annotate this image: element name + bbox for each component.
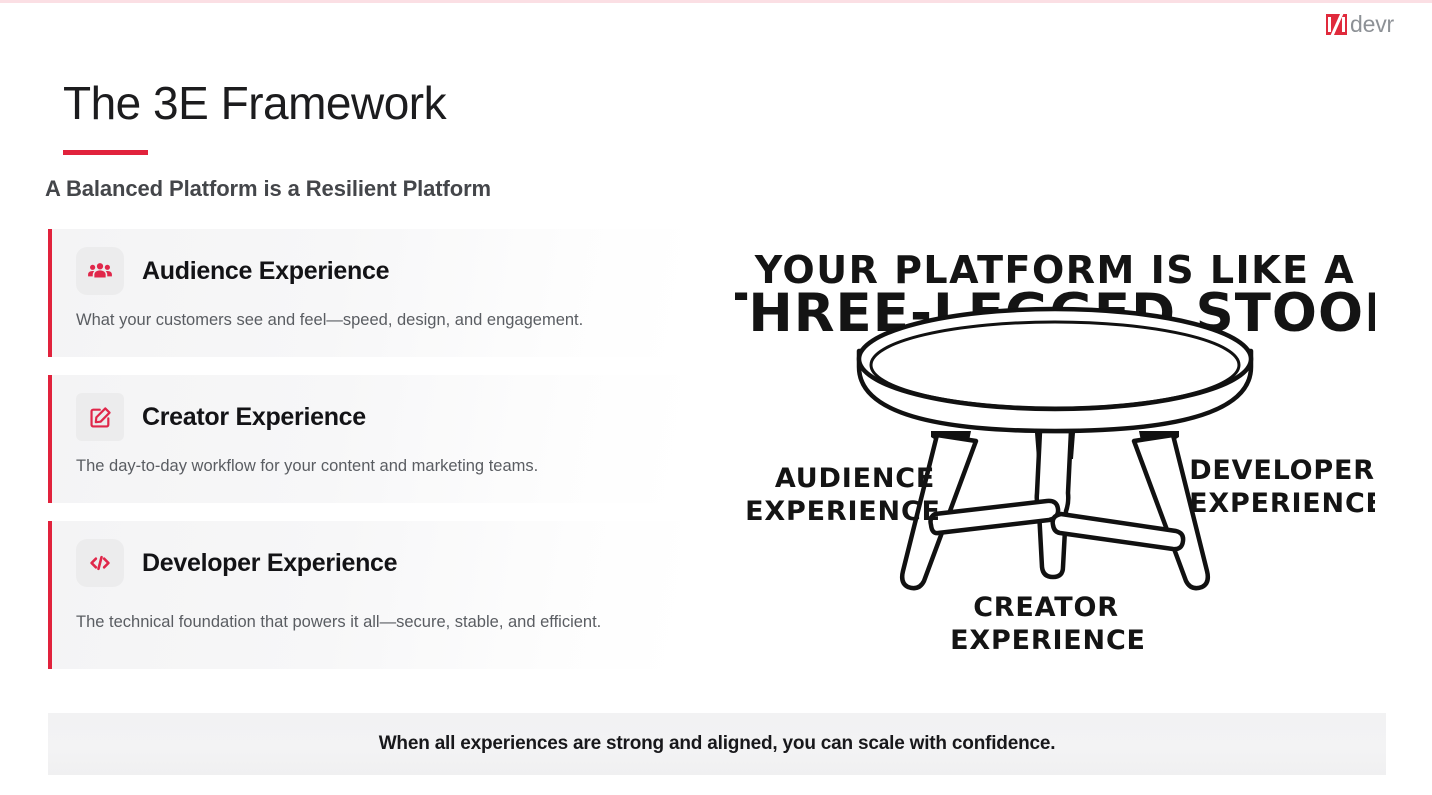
card-title: Audience Experience [142, 257, 389, 286]
stool-drawing [859, 309, 1251, 588]
card-header: Creator Experience [76, 393, 656, 441]
label-creator-line1: CREATOR [973, 592, 1119, 623]
card-header: Audience Experience [76, 247, 656, 295]
edit-square-icon [76, 393, 124, 441]
label-audience-line2: EXPERIENCE [745, 496, 941, 527]
card-creator-experience[interactable]: Creator Experience The day-to-day workfl… [48, 375, 680, 503]
three-legged-stool-illustration: YOUR PLATFORM IS LIKE A THREE-LEGGED STO… [735, 235, 1375, 660]
card-audience-experience[interactable]: Audience Experience What your customers … [48, 229, 680, 357]
card-developer-experience[interactable]: Developer Experience The technical found… [48, 521, 680, 669]
card-title: Developer Experience [142, 549, 397, 578]
experience-card-list: Audience Experience What your customers … [48, 229, 680, 687]
card-description: The day-to-day workflow for your content… [76, 455, 636, 478]
brand-logo: devr [1326, 11, 1394, 38]
code-brackets-icon [76, 539, 124, 587]
footer-banner: When all experiences are strong and alig… [48, 713, 1386, 775]
label-developer-line2: EXPERIENCE [1189, 488, 1375, 519]
page-subtitle: A Balanced Platform is a Resilient Platf… [45, 176, 491, 202]
label-audience-line1: AUDIENCE [775, 463, 935, 494]
page-title: The 3E Framework [63, 77, 446, 130]
footer-text: When all experiences are strong and alig… [379, 733, 1056, 755]
label-creator-line2: EXPERIENCE [950, 625, 1146, 656]
brand-wordmark: devr [1350, 11, 1394, 38]
title-accent-rule [63, 150, 148, 155]
card-description: What your customers see and feel—speed, … [76, 309, 636, 332]
ndevr-logo-icon [1326, 14, 1347, 35]
slide-root: devr The 3E Framework A Balanced Platfor… [0, 0, 1432, 795]
card-description: The technical foundation that powers it … [76, 611, 636, 634]
users-group-icon [76, 247, 124, 295]
card-title: Creator Experience [142, 403, 366, 432]
label-developer-line1: DEVELOPER [1189, 455, 1375, 486]
card-header: Developer Experience [76, 539, 656, 587]
